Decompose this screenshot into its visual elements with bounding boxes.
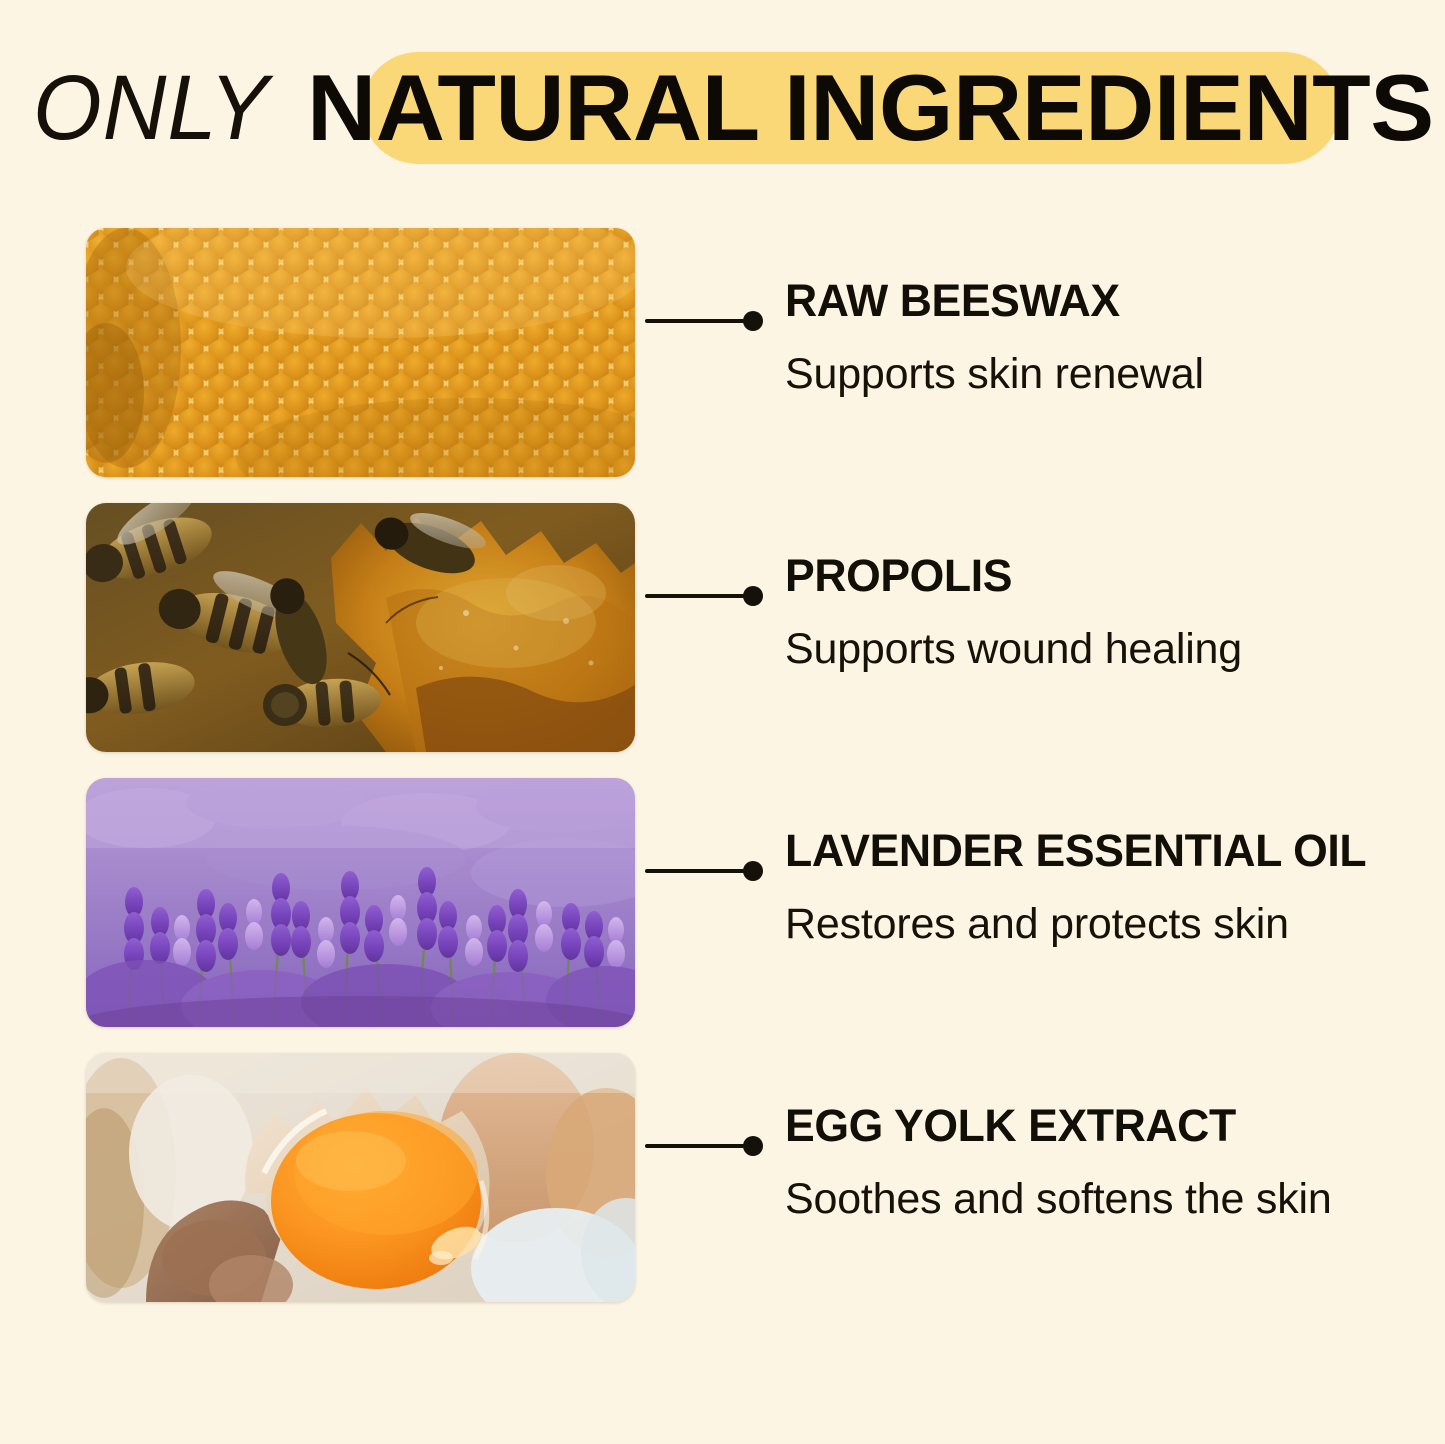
connector-stroke — [645, 1144, 747, 1148]
egg-yolk-photo — [86, 1053, 635, 1302]
connector-dot — [743, 586, 763, 606]
connector-dot — [743, 861, 763, 881]
ingredient-text: LAVENDER ESSENTIAL OIL Restores and prot… — [785, 828, 1405, 946]
ingredient-description: Supports wound healing — [785, 628, 1405, 671]
ingredient-text: PROPOLIS Supports wound healing — [785, 553, 1405, 671]
ingredient-text: EGG YOLK EXTRACT Soothes and softens the… — [785, 1103, 1405, 1221]
title-main: NATURAL INGREDIENTS — [307, 54, 1434, 162]
connector-stroke — [645, 319, 747, 323]
ingredient-row: LAVENDER ESSENTIAL OIL Restores and prot… — [0, 778, 1445, 1027]
honeycomb-photo — [86, 228, 635, 477]
connector-stroke — [645, 594, 747, 598]
title-prefix: ONLY — [33, 56, 269, 161]
ingredient-row: EGG YOLK EXTRACT Soothes and softens the… — [0, 1053, 1445, 1302]
ingredient-list: RAW BEESWAX Supports skin renewal — [0, 228, 1445, 1328]
ingredient-row: PROPOLIS Supports wound healing — [0, 503, 1445, 752]
lavender-field-photo — [86, 778, 635, 1027]
ingredient-text: RAW BEESWAX Supports skin renewal — [785, 278, 1405, 396]
ingredient-description: Soothes and softens the skin — [785, 1178, 1405, 1221]
honeycomb-illustration — [86, 228, 635, 477]
bees-propolis-photo — [86, 503, 635, 752]
lavender-field-illustration — [86, 778, 635, 1027]
ingredient-name: RAW BEESWAX — [785, 278, 1399, 323]
connector-dot — [743, 311, 763, 331]
connector-line — [645, 1053, 765, 1302]
ingredient-description: Restores and protects skin — [785, 903, 1405, 946]
header-banner: ONLY NATURAL INGREDIENTS — [0, 0, 1445, 200]
connector-line — [645, 228, 765, 477]
connector-dot — [743, 1136, 763, 1156]
bees-propolis-illustration — [86, 503, 635, 752]
ingredient-row: RAW BEESWAX Supports skin renewal — [0, 228, 1445, 477]
ingredient-name: LAVENDER ESSENTIAL OIL — [785, 828, 1399, 873]
page-title: ONLY NATURAL INGREDIENTS — [0, 52, 1445, 164]
ingredient-name: EGG YOLK EXTRACT — [785, 1103, 1399, 1148]
ingredient-description: Supports skin renewal — [785, 353, 1405, 396]
connector-line — [645, 503, 765, 752]
egg-yolk-illustration — [86, 1053, 635, 1302]
ingredient-name: PROPOLIS — [785, 553, 1399, 598]
connector-stroke — [645, 869, 747, 873]
connector-line — [645, 778, 765, 1027]
